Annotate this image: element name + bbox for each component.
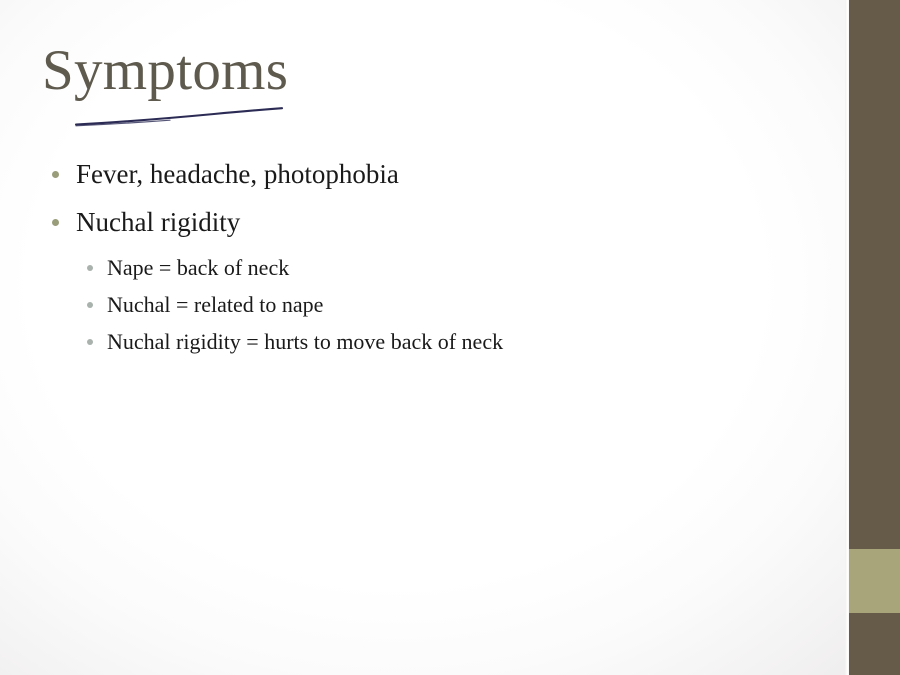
- list-item: Nuchal rigidity = hurts to move back of …: [42, 326, 822, 358]
- bullet-dot-icon: [87, 339, 93, 345]
- body-bullet-list: Fever, headache, photophobia Nuchal rigi…: [42, 155, 822, 364]
- slide-canvas: Symptoms Fever, headache, photophobia Nu…: [0, 0, 900, 675]
- title-underline-stroke: [74, 104, 284, 130]
- slide-title: Symptoms: [42, 42, 802, 99]
- bullet-dot-icon: [87, 302, 93, 308]
- list-item-label: Nuchal rigidity = hurts to move back of …: [107, 326, 503, 358]
- sidebar-band-olive-accent: [849, 549, 900, 613]
- list-item-label: Fever, headache, photophobia: [76, 155, 399, 194]
- bullet-dot-icon: [52, 171, 59, 178]
- bullet-dot-icon: [52, 219, 59, 226]
- list-item: Nuchal rigidity: [42, 203, 822, 242]
- list-item-label: Nuchal = related to nape: [107, 289, 323, 321]
- list-item: Nuchal = related to nape: [42, 289, 822, 321]
- list-item-label: Nuchal rigidity: [76, 203, 240, 242]
- list-item: Nape = back of neck: [42, 252, 822, 284]
- sidebar-band-lower-brown: [849, 613, 900, 675]
- sidebar-band-upper-brown: [849, 0, 900, 549]
- list-item: Fever, headache, photophobia: [42, 155, 822, 194]
- decorative-sidebar: [845, 0, 900, 675]
- list-item-label: Nape = back of neck: [107, 252, 289, 284]
- title-block: Symptoms: [42, 42, 802, 137]
- bullet-dot-icon: [87, 265, 93, 271]
